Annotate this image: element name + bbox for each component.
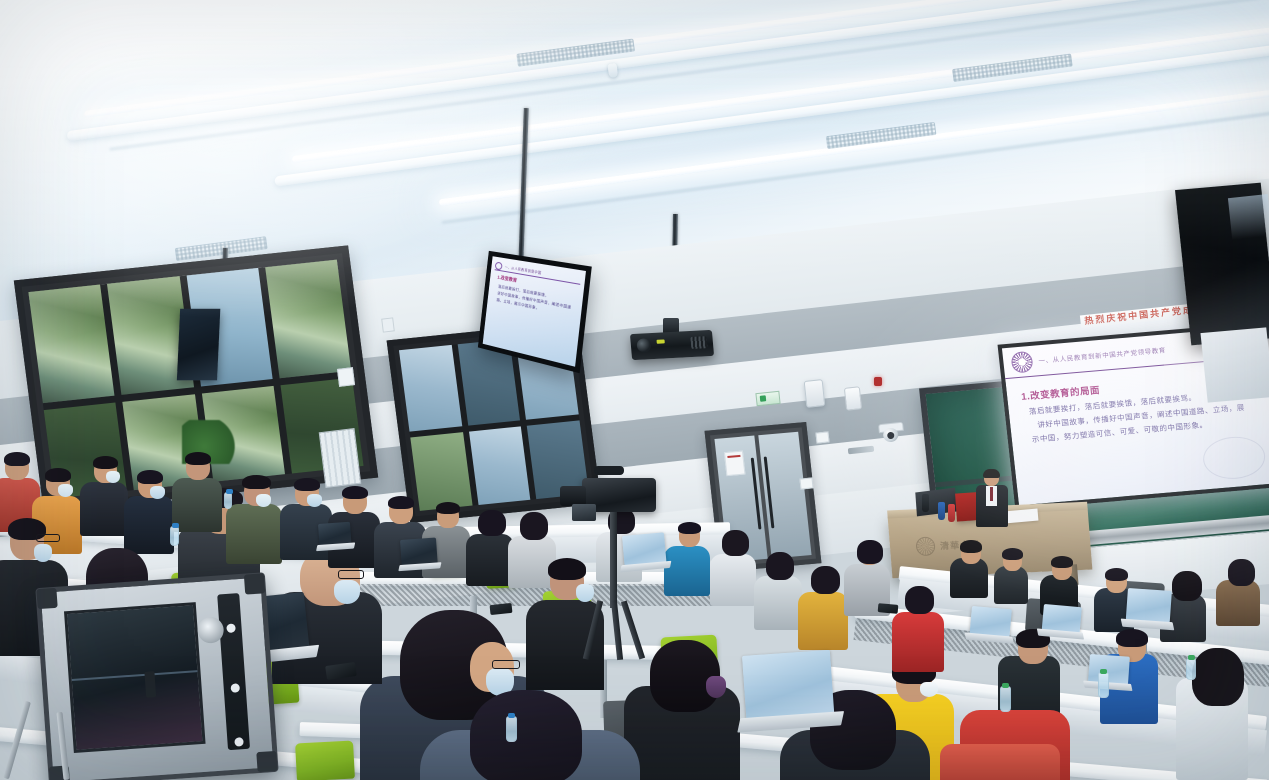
ceiling-sprinkler — [607, 63, 618, 78]
door-handle[interactable] — [751, 458, 762, 530]
wall-speaker-icon — [804, 379, 826, 408]
video-monitor-in-flight-case — [35, 572, 278, 780]
wall-outlet-plate[interactable] — [815, 431, 829, 443]
flight-case-side-strip — [217, 593, 250, 750]
side-panel-glow — [1228, 194, 1269, 240]
wall-outlet-plate[interactable] — [799, 477, 813, 489]
tripod-leg — [621, 601, 645, 660]
water-bottle[interactable] — [1000, 686, 1011, 712]
camera-center-post — [610, 512, 617, 608]
water-bottle[interactable] — [506, 716, 517, 742]
exit-sign-icon — [755, 391, 780, 406]
hanging-slide-body: 落后就要挨打，落后就要挨饿， 讲好中国故事，传播好中国声音，阐述中国道 路、立场… — [496, 284, 574, 320]
lecturer-hair — [983, 469, 1000, 478]
door-notice — [724, 451, 746, 477]
window-mounted-display — [177, 309, 221, 381]
fire-alarm-light-icon — [874, 377, 882, 386]
camera-lcd — [572, 504, 596, 521]
university-seal-icon — [495, 261, 503, 270]
lectern-bottle — [948, 504, 955, 522]
tsinghua-seal-icon — [915, 536, 935, 556]
tripod-leg — [583, 600, 603, 660]
flight-case-corner — [256, 751, 277, 772]
door-leaf-right[interactable] — [758, 432, 811, 559]
water-bottle[interactable] — [170, 526, 179, 546]
projector-indicator — [656, 339, 664, 343]
broadcast-camcorder-on-tripod — [566, 478, 658, 658]
hanging-slide-title: 1.改变教育 — [497, 275, 517, 284]
projector-vent — [690, 336, 707, 349]
water-bottle[interactable] — [224, 492, 232, 509]
hanging-monitor-screen: 一、从人民教育到新中国 1.改变教育 落后就要挨打，落后就要挨饿， 讲好中国故事… — [483, 256, 586, 366]
camera-microphone — [594, 466, 624, 475]
slide-title: 1.改变教育的局面 — [1020, 382, 1100, 403]
window-pane — [469, 426, 531, 505]
ceiling-projector — [630, 330, 714, 360]
flight-case-body — [35, 572, 278, 780]
dome-security-camera-icon — [878, 422, 903, 444]
slide-watermark — [1201, 434, 1267, 481]
lecturer — [975, 470, 1009, 526]
projector-lens-icon — [636, 338, 651, 353]
lecturer-tie — [990, 487, 993, 501]
flight-case-latch[interactable] — [144, 671, 156, 698]
wall-speaker-icon — [844, 386, 862, 411]
lectern-bottle — [922, 494, 929, 512]
camera-lens-hood-icon — [560, 486, 586, 506]
window-pane — [410, 432, 472, 511]
wall-sensor — [381, 317, 395, 332]
tripod-leg — [611, 600, 623, 660]
lectern-bottle — [938, 502, 945, 520]
smartphone[interactable] — [490, 603, 513, 615]
smartphone[interactable] — [878, 603, 899, 614]
wall-control-box[interactable] — [337, 367, 355, 387]
wall-radiator — [319, 428, 362, 488]
window-pane — [399, 345, 462, 431]
window-pane — [265, 260, 351, 378]
chair[interactable] — [295, 741, 355, 780]
door-handle[interactable] — [764, 457, 775, 529]
flight-case-corner — [244, 573, 265, 594]
flight-case-corner — [36, 588, 57, 609]
window-pane — [28, 285, 114, 403]
slide-header-text: 一、从人民教育到新中国共产党领导教育 — [1038, 344, 1166, 365]
water-bottle[interactable] — [1098, 672, 1109, 698]
lecture-hall-photo: 热烈庆祝中国共产党成立一百周年 — [0, 0, 1269, 780]
hanging-slide-header-text: 一、从人民教育到新中国 — [505, 264, 542, 275]
water-bottle[interactable] — [1186, 658, 1196, 680]
preview-monitor-screen — [64, 602, 206, 753]
university-seal-icon — [1010, 350, 1033, 373]
side-wall-panel — [1200, 327, 1269, 402]
